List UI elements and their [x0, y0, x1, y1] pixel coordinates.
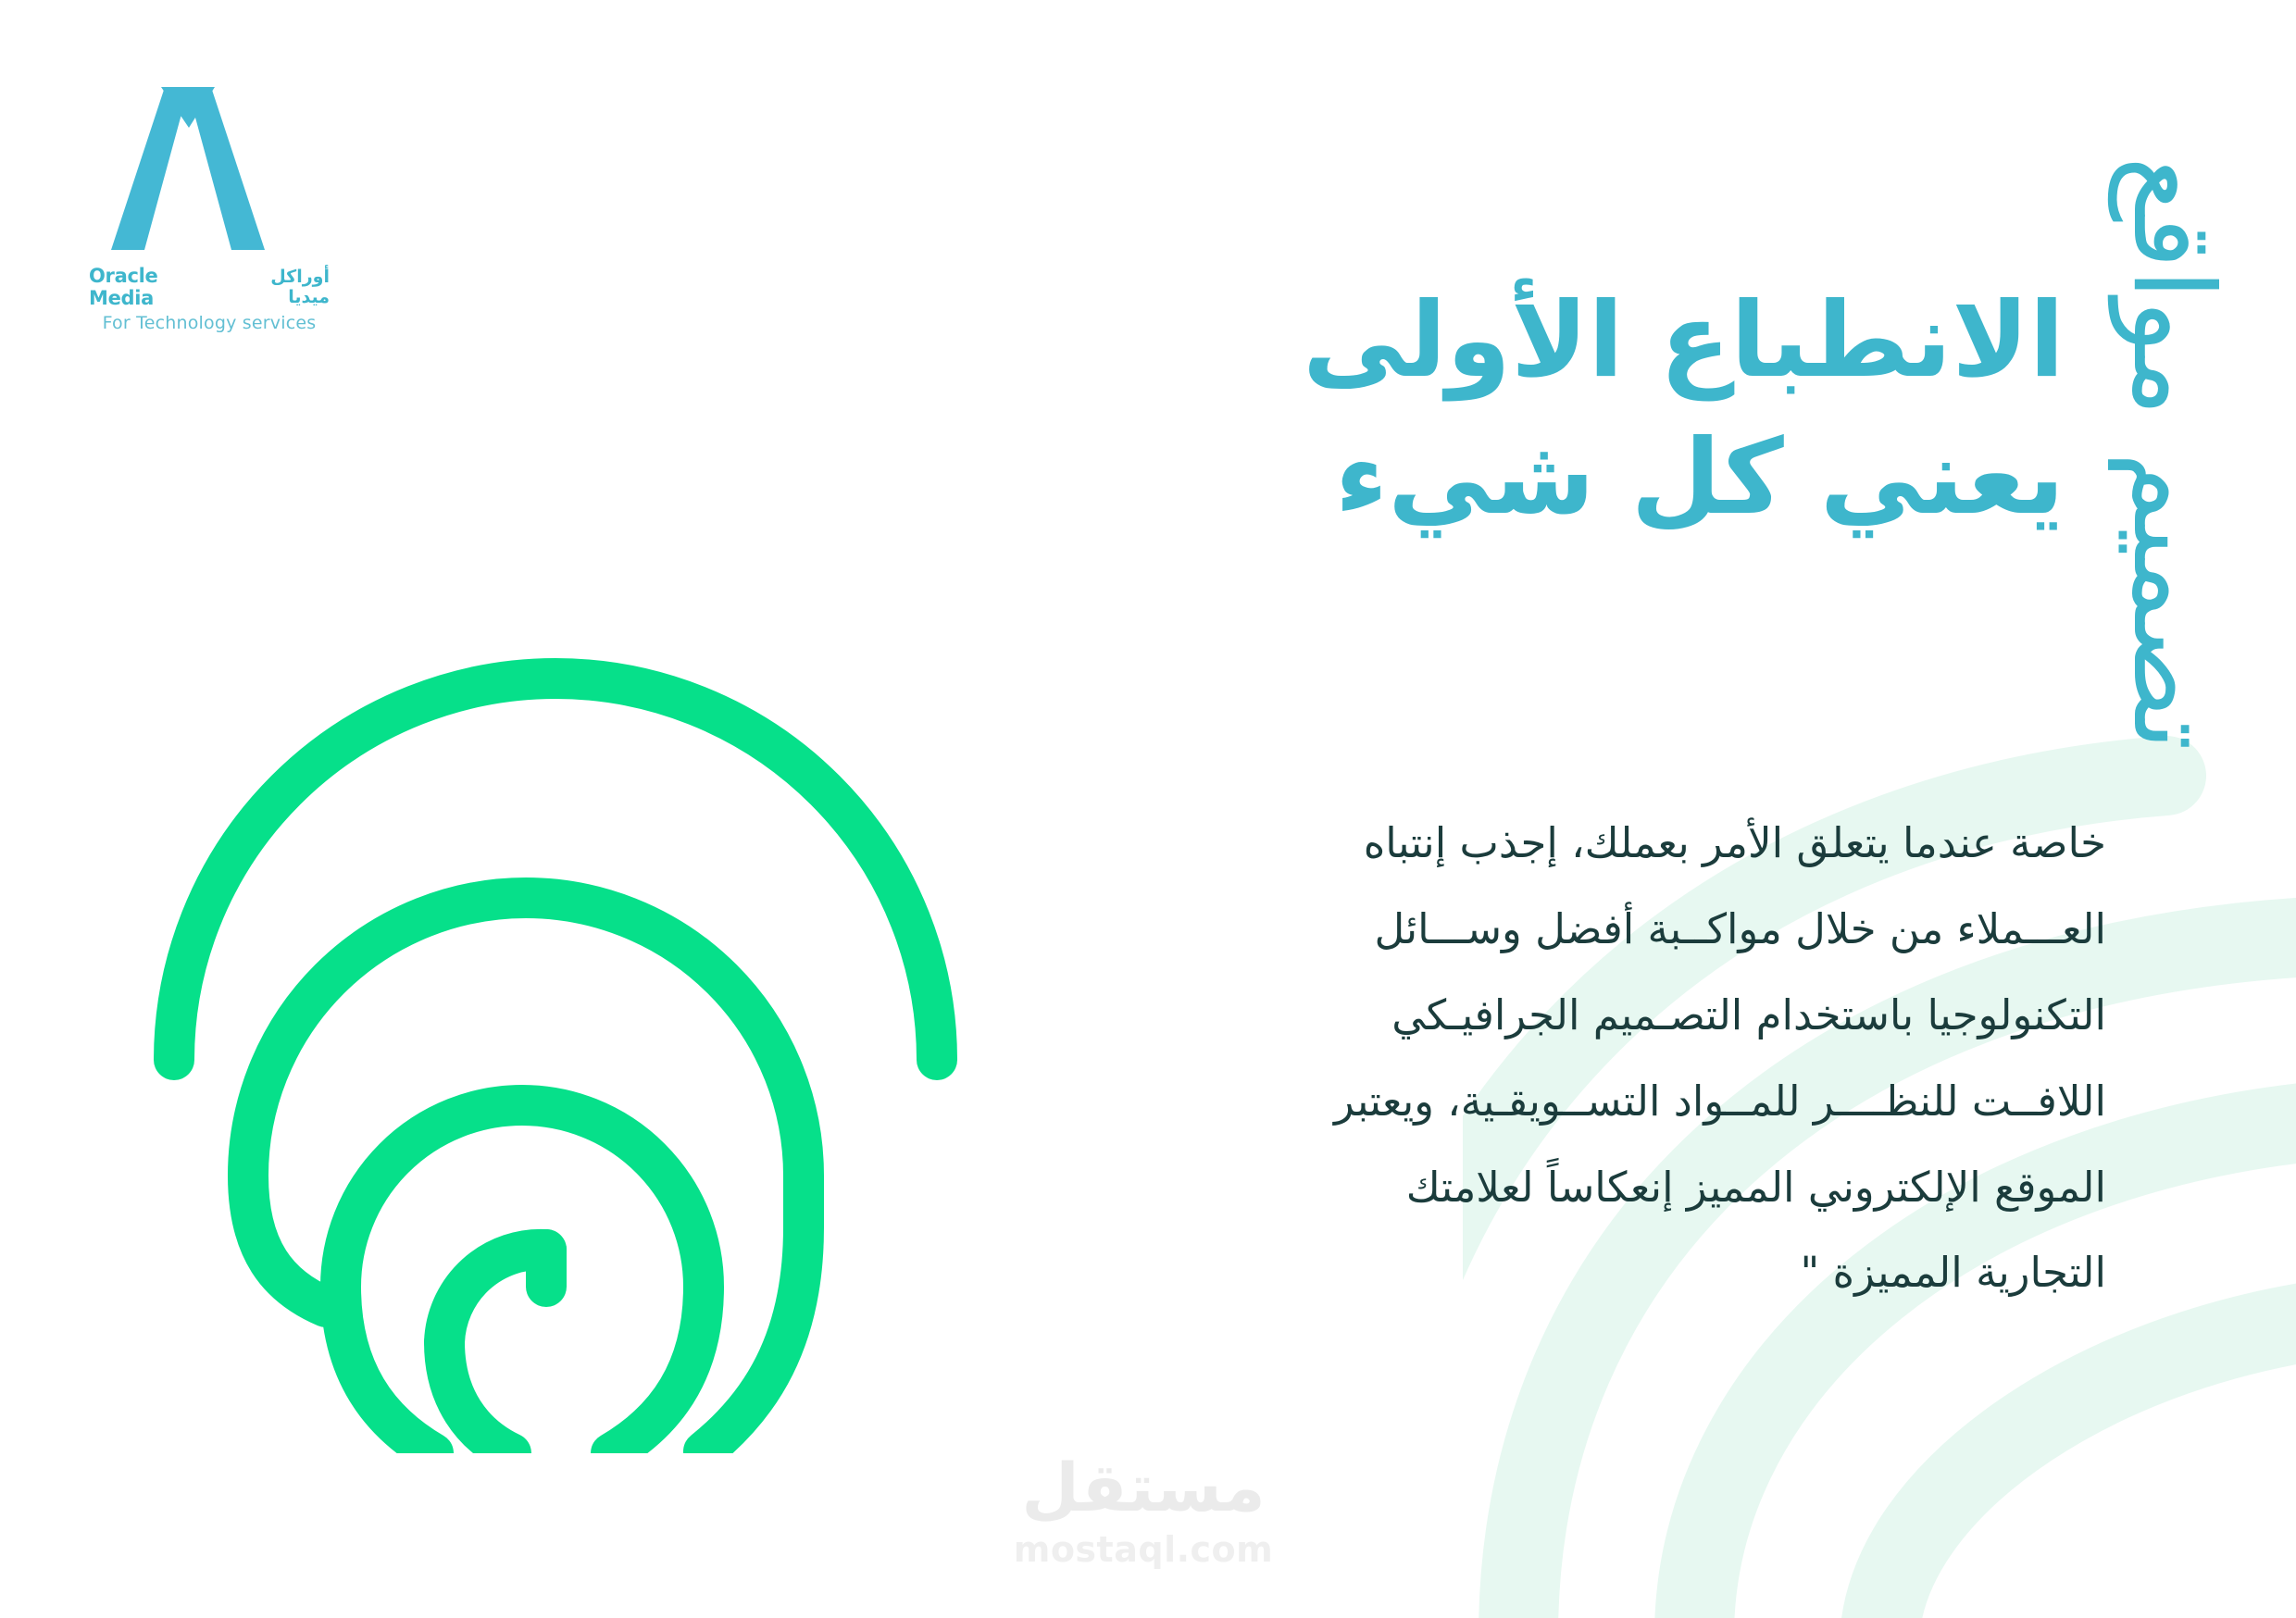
watermark-url: mostaql.com	[977, 1529, 1310, 1570]
body-line-4: اللافــت للنظــــر للمــواد التســويقـية…	[1180, 1068, 2106, 1136]
body-line-1: خاصة عندما يتعلق الأمر بعملك، إجذب إنتبا…	[1180, 810, 2106, 877]
logo-name-en: Oracle Media	[89, 265, 218, 309]
headline-line-2: يعني كل شيء	[954, 410, 2065, 547]
body-line-2: العـــملاء من خلال مواكــبة أفضل وســـائ…	[1180, 896, 2106, 964]
logo-tagline: For Technology services	[89, 313, 330, 333]
headline: الانطباع الأولى يعني كل شيء	[954, 273, 2065, 547]
headline-line-1: الانطباع الأولى	[954, 273, 2065, 410]
body-line-3: التكنولوجيا باستخدام التصـميم الجرافيـكي	[1180, 982, 2106, 1050]
logo-name-ar: أوراكل ميديا	[231, 267, 330, 307]
fingerprint-icon	[148, 639, 963, 1453]
body-line-6: التجارية المميزة "	[1180, 1239, 2106, 1307]
watermark-brand-arabic: مستقل	[977, 1453, 1310, 1524]
brand-logo: Oracle Media أوراكل ميديا For Technology…	[89, 85, 330, 333]
mostaql-watermark: مستقل mostaql.com	[977, 1453, 1310, 1570]
oracle-media-a-monogram-icon	[109, 85, 267, 252]
vertical-arabic-label: تصميم مواقع	[2079, 139, 2265, 768]
poster-canvas: Oracle Media أوراكل ميديا For Technology…	[0, 0, 2296, 1618]
body-line-5: الموقع الإلكتروني المميز إنعكاساً لعلامت…	[1180, 1154, 2106, 1222]
vertical-arabic-label-text: تصميم مواقع	[2116, 156, 2227, 751]
body-paragraph: خاصة عندما يتعلق الأمر بعملك، إجذب إنتبا…	[1180, 810, 2106, 1326]
